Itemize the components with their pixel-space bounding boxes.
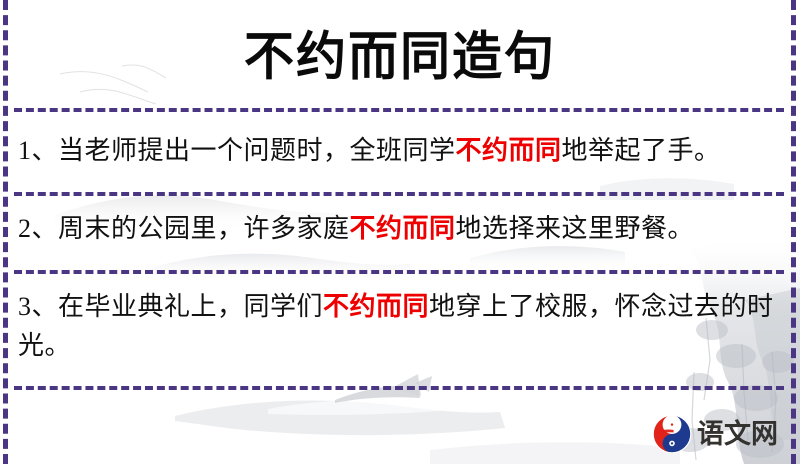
yinyang-fish-logo-icon (652, 414, 692, 454)
site-watermark: 语文网 (652, 412, 778, 456)
sentence-2-text-before: 2、周末的公园里，许多家庭 (18, 214, 350, 243)
page-title-band: 不约而同造句 (0, 18, 800, 96)
watermark-text: 语文网 (697, 421, 778, 448)
example-sentence-1: 1、当老师提出一个问题时，全班同学不约而同地举起了手。 (18, 131, 774, 170)
example-sentence-2: 2、周末的公园里，许多家庭不约而同地选择来这里野餐。 (18, 209, 774, 248)
divider-after-sentence-2 (14, 270, 784, 274)
divider-below-title (14, 108, 784, 112)
sentence-2-text-after: 地选择来这里野餐。 (456, 214, 695, 243)
sentence-1-text-after: 地举起了手。 (562, 136, 721, 165)
sentence-1-text-before: 1、当老师提出一个问题时，全班同学 (18, 136, 456, 165)
sentence-1-keyword: 不约而同 (456, 136, 562, 165)
sentence-3-text-before: 3、在毕业典礼上，同学们 (18, 292, 323, 321)
sentence-2-keyword: 不约而同 (350, 214, 456, 243)
page-title: 不约而同造句 (244, 31, 556, 83)
worksheet-page: 不约而同造句 1、当老师提出一个问题时，全班同学不约而同地举起了手。 2、周末的… (0, 0, 800, 464)
example-sentence-3: 3、在毕业典礼上，同学们不约而同地穿上了校服，怀念过去的时光。 (18, 287, 774, 365)
divider-after-sentence-3 (14, 386, 784, 390)
divider-after-sentence-1 (14, 192, 784, 196)
sentence-3-keyword: 不约而同 (323, 292, 429, 321)
